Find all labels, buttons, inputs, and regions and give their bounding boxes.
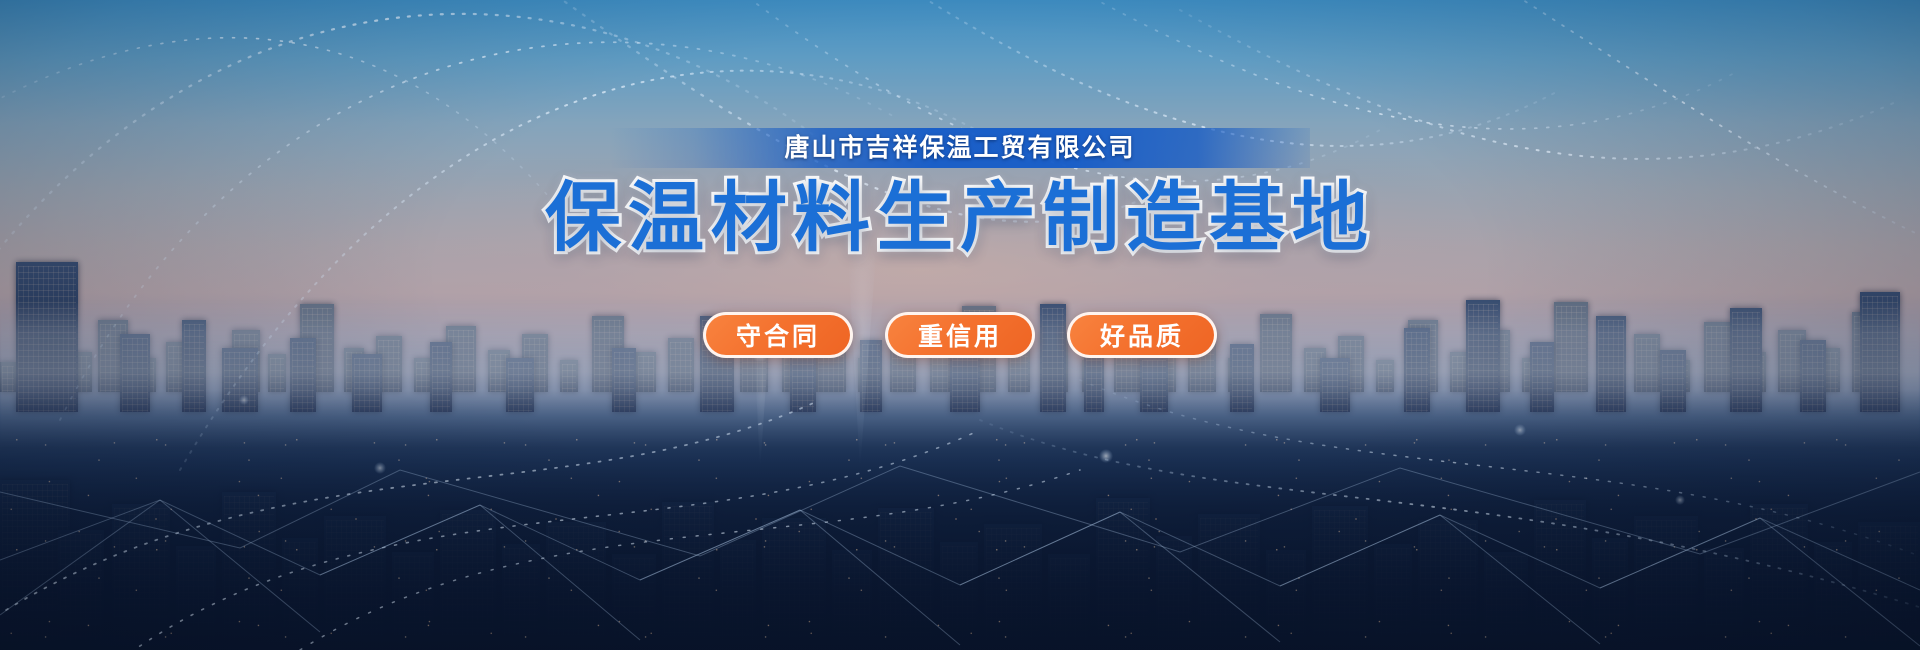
pill-good-quality-label: 好品质 bbox=[1100, 317, 1184, 353]
headline-title: 保温材料生产制造基地 bbox=[545, 176, 1375, 261]
hero-banner: 唐山市吉祥保温工贸有限公司 保温材料生产制造基地 守合同 重信用 好品质 bbox=[0, 0, 1920, 650]
pill-value-credit-label: 重信用 bbox=[918, 317, 1002, 353]
feature-pill-row: 守合同 重信用 好品质 bbox=[703, 312, 1217, 358]
pill-good-quality[interactable]: 好品质 bbox=[1067, 312, 1217, 358]
banner-content: 唐山市吉祥保温工贸有限公司 保温材料生产制造基地 守合同 重信用 好品质 bbox=[0, 0, 1920, 650]
company-name: 唐山市吉祥保温工贸有限公司 bbox=[784, 136, 1135, 161]
company-name-band: 唐山市吉祥保温工贸有限公司 bbox=[610, 128, 1310, 168]
pill-value-credit[interactable]: 重信用 bbox=[885, 312, 1035, 358]
pill-keep-contract-label: 守合同 bbox=[736, 317, 820, 353]
pill-keep-contract[interactable]: 守合同 bbox=[703, 312, 853, 358]
